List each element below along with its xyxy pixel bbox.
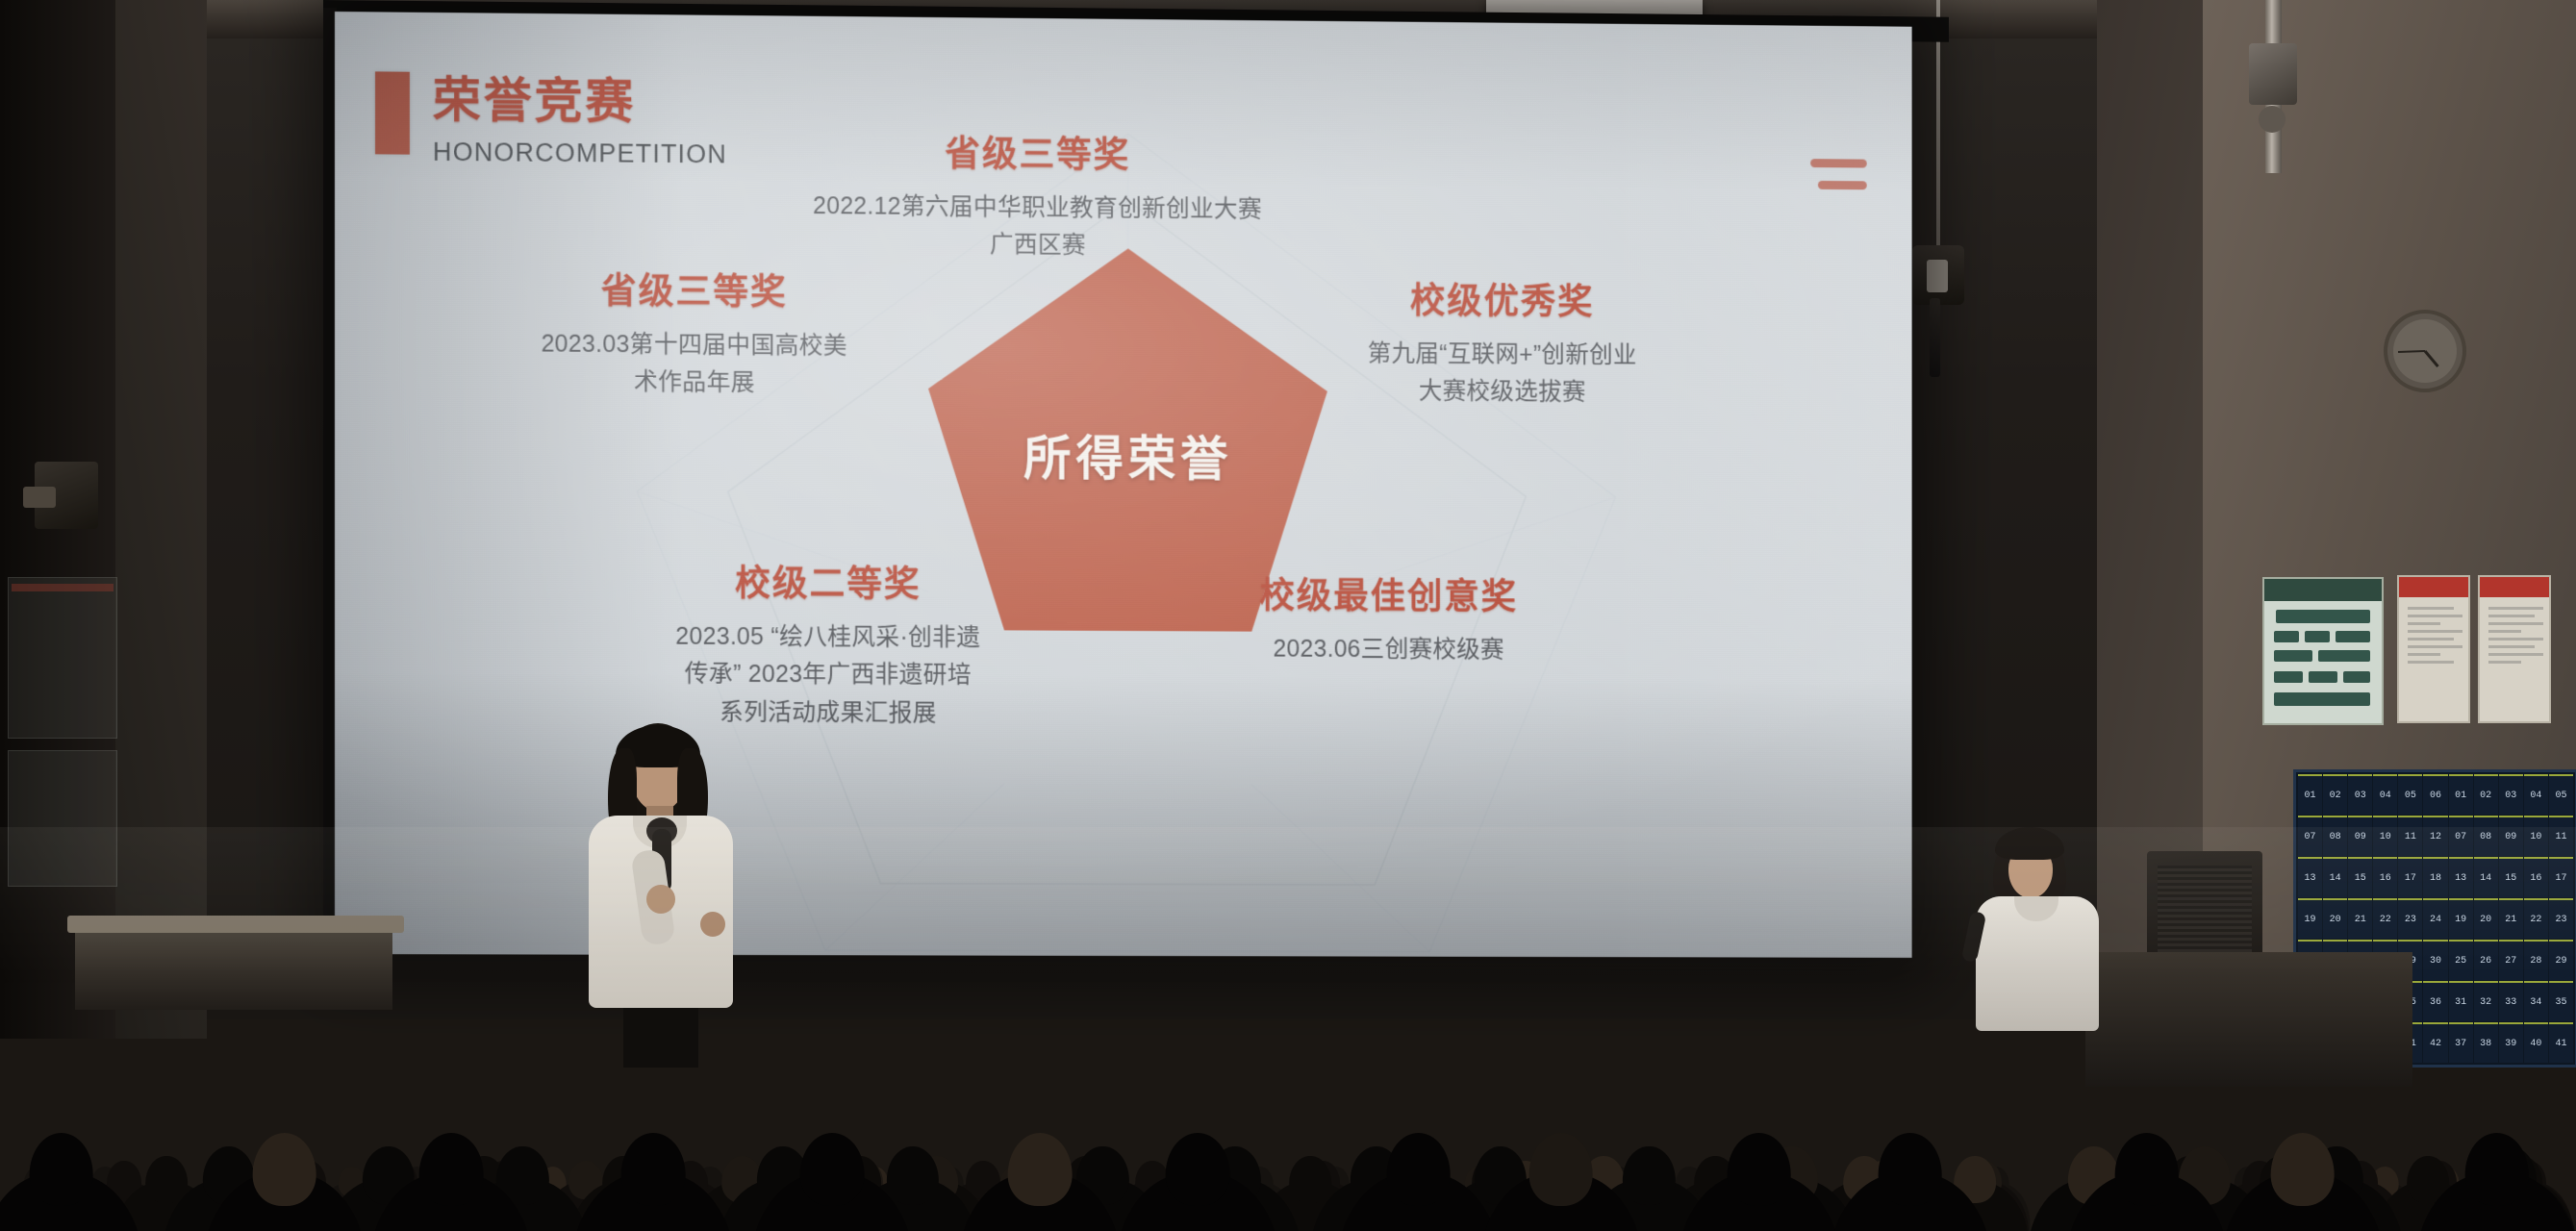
award-desc-line: 2022.12第六届中华职业教育创新创业大赛 (770, 187, 1303, 229)
award-title: 校级最佳创意奖 (1200, 576, 1578, 618)
award-desc-line: 传承” 2023年广西非遗研培 (618, 655, 1038, 694)
locker-cell[interactable]: 05 (2398, 774, 2422, 815)
pipe-knob (2259, 106, 2286, 133)
notice-board-2 (2478, 575, 2551, 723)
flow-node (2274, 692, 2370, 706)
projection-screen: 荣誉竞赛 HONORCOMPETITION (335, 12, 1912, 958)
locker-cell[interactable]: 03 (2499, 774, 2523, 815)
audience-member (1828, 1101, 1992, 1231)
award-desc-line: 第九届“互联网+”创新创业 (1299, 335, 1705, 375)
award-desc-line: 大赛校级选拔赛 (1299, 372, 1705, 413)
audience-head (621, 1133, 686, 1205)
notice-line (2488, 615, 2535, 617)
flow-node (2318, 650, 2370, 662)
award-description: 2023.06三创赛校级赛 (1200, 630, 1578, 669)
hanging-strap (1930, 298, 1940, 377)
notice-board-header (2399, 577, 2468, 597)
award-desc-line: 术作品年展 (493, 363, 896, 403)
audience-member (1336, 1101, 1501, 1231)
award-desc-line: 2023.05 “绘八桂风采·创非遗 (618, 617, 1038, 657)
flow-board-header (2264, 579, 2382, 601)
wall-bracket (23, 487, 56, 508)
poster-header-bar (12, 584, 114, 591)
notice-line (2488, 653, 2543, 656)
screen-clamp-inner (1927, 260, 1948, 292)
audience-head (1727, 1133, 1791, 1205)
flow-node (2305, 631, 2330, 642)
flow-node (2274, 671, 2303, 683)
audience-member (571, 1101, 736, 1231)
notice-line (2408, 653, 2440, 656)
audience-member (958, 1101, 1123, 1231)
audience-member (1116, 1101, 1280, 1231)
notice-board-header (2480, 577, 2549, 597)
audience-member (1677, 1101, 1841, 1231)
locker-cell[interactable]: 04 (2524, 774, 2548, 815)
award-description: 第九届“互联网+”创新创业 大赛校级选拔赛 (1299, 335, 1705, 413)
notice-line (2488, 661, 2521, 664)
audience-head (1386, 1133, 1451, 1205)
notice-line (2488, 645, 2535, 648)
locker-cell[interactable]: 04 (2373, 774, 2397, 815)
notice-line (2408, 615, 2462, 617)
notice-line (2488, 638, 2543, 641)
audience-member (750, 1101, 915, 1231)
award-description: 2022.12第六届中华职业教育创新创业大赛 广西区赛 (770, 187, 1303, 266)
lecture-hall-scene: 荣誉竞赛 HONORCOMPETITION (0, 0, 2576, 1231)
notice-board-body (2480, 597, 2549, 673)
award-desc-line: 2023.03第十四届中国高校美 (493, 325, 896, 365)
audience-head (2464, 1133, 2529, 1205)
flow-node (2336, 631, 2370, 642)
audience-head (800, 1133, 865, 1205)
notice-line (2408, 645, 2462, 648)
locker-cell[interactable]: 02 (2323, 774, 2347, 815)
award-node-right: 校级优秀奖 第九届“互联网+”创新创业 大赛校级选拔赛 (1299, 281, 1705, 413)
clock-minute-hand (2398, 350, 2425, 353)
notice-board-1 (2397, 575, 2470, 723)
audience-head (1166, 1133, 1230, 1205)
award-desc-line: 广西区赛 (770, 225, 1303, 267)
notice-line (2408, 638, 2454, 641)
clock-hour-hand (2424, 350, 2439, 367)
notice-line (2488, 630, 2521, 633)
award-node-left: 省级三等奖 2023.03第十四届中国高校美 术作品年展 (493, 270, 896, 403)
award-title: 省级三等奖 (493, 270, 896, 314)
pipe-junction-box (2249, 43, 2297, 105)
process-flow-board (2262, 577, 2384, 725)
wall-clock (2384, 310, 2466, 392)
audience-member (202, 1101, 366, 1231)
presentation-slide: 荣誉竞赛 HONORCOMPETITION (335, 12, 1912, 958)
audience-member (1478, 1101, 1643, 1231)
award-node-bottom-left: 校级二等奖 2023.05 “绘八桂风采·创非遗 传承” 2023年广西非遗研培… (618, 564, 1038, 733)
flow-node (2274, 631, 2299, 642)
audience-head (419, 1133, 484, 1205)
center-pentagon-label: 所得荣誉 (1023, 420, 1232, 490)
audience-head (29, 1133, 93, 1205)
notice-line (2488, 622, 2543, 625)
notice-line (2408, 607, 2454, 610)
audience-head (1878, 1133, 1942, 1205)
flow-node (2274, 650, 2312, 662)
award-title: 省级三等奖 (770, 133, 1303, 178)
notice-line (2488, 607, 2543, 610)
flow-node (2276, 610, 2370, 623)
audience-head (252, 1133, 316, 1205)
flow-node (2343, 671, 2370, 683)
audience-head (1008, 1133, 1073, 1205)
audience-silhouettes (0, 827, 2576, 1231)
award-description: 2023.03第十四届中国高校美 术作品年展 (493, 325, 896, 404)
audience-head (2270, 1133, 2335, 1205)
award-node-top: 省级三等奖 2022.12第六届中华职业教育创新创业大赛 广西区赛 (770, 133, 1303, 266)
audience-head (1528, 1133, 1593, 1205)
award-title: 校级优秀奖 (1299, 281, 1705, 324)
locker-cell[interactable]: 01 (2298, 774, 2322, 815)
audience-head (2114, 1133, 2179, 1205)
award-title: 校级二等奖 (618, 564, 1038, 607)
locker-cell[interactable]: 03 (2348, 774, 2372, 815)
audience-member (2220, 1101, 2385, 1231)
locker-cell[interactable]: 05 (2549, 774, 2573, 815)
award-description: 2023.05 “绘八桂风采·创非遗 传承” 2023年广西非遗研培 系列活动成… (618, 617, 1038, 733)
award-desc-line: 2023.06三创赛校级赛 (1200, 630, 1578, 669)
award-node-bottom-right: 校级最佳创意奖 2023.06三创赛校级赛 (1200, 576, 1578, 669)
locker-cell[interactable]: 01 (2449, 774, 2473, 815)
audience-member (0, 1101, 143, 1231)
locker-cell[interactable]: 02 (2474, 774, 2498, 815)
notice-board-body (2399, 597, 2468, 673)
notice-line (2408, 622, 2440, 625)
audience-member (368, 1101, 533, 1231)
audience-member (2414, 1101, 2576, 1231)
flow-node (2309, 671, 2337, 683)
notice-line (2408, 630, 2462, 633)
left-wall-poster-1 (8, 577, 117, 739)
notice-line (2408, 661, 2454, 664)
locker-cell[interactable]: 06 (2423, 774, 2447, 815)
audience-member (2064, 1101, 2229, 1231)
clock-face (2393, 319, 2457, 383)
